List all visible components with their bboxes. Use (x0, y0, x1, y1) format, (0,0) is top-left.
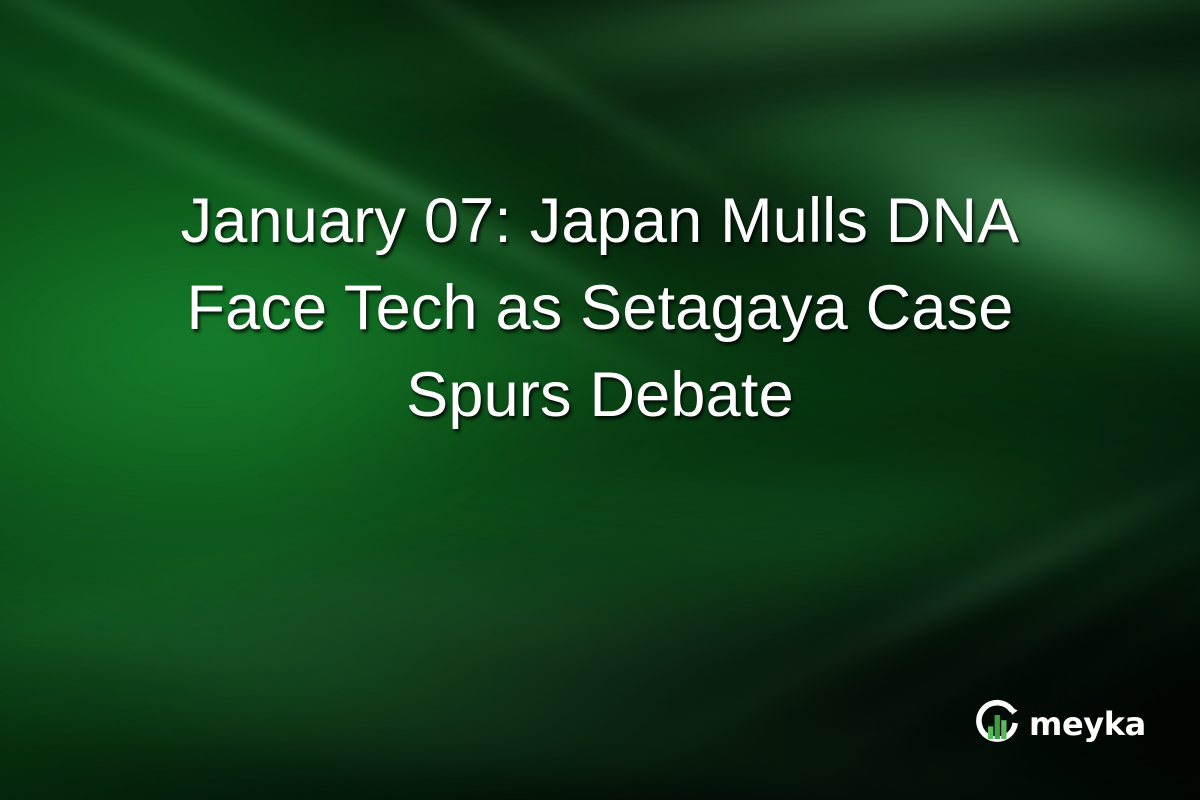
light-ribbon-top-1 (175, 0, 1200, 181)
news-banner-card: January 07: Japan Mulls DNA Face Tech as… (0, 0, 1200, 800)
meyka-circular-bar-chart-icon (972, 698, 1022, 748)
brand-logo[interactable]: meyka (972, 698, 1146, 748)
title-line-1: January 07: Japan Mulls DNA (48, 178, 1152, 265)
shadow-band-lower (173, 499, 1200, 800)
title-line-2: Face Tech as Setagaya Case (48, 265, 1152, 352)
title-line-3: Spurs Debate (48, 352, 1152, 439)
brand-wordmark: meyka (1029, 708, 1146, 740)
light-streak-lower-right-2 (679, 475, 1200, 800)
light-wave-lower-3 (0, 633, 1122, 800)
page-title: January 07: Japan Mulls DNA Face Tech as… (0, 178, 1200, 439)
light-wave-lower-2 (0, 519, 1200, 800)
light-streak-lower-right-3 (836, 489, 1200, 800)
